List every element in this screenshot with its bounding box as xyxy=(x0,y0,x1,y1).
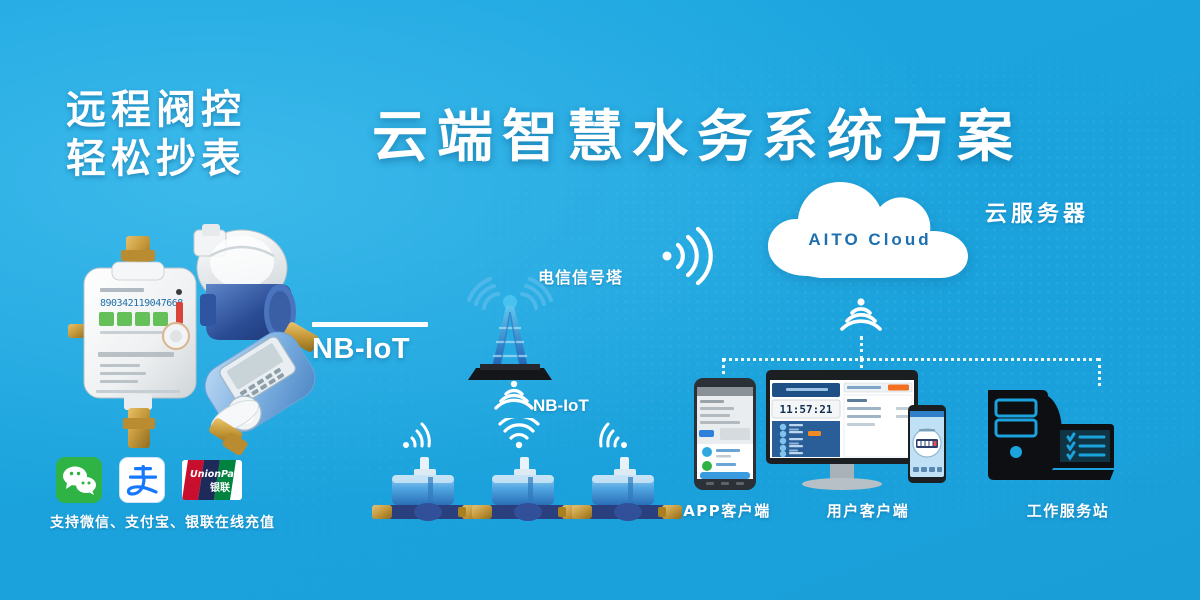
signal-tower-icon xyxy=(462,272,558,382)
alipay-icon[interactable] xyxy=(119,457,165,503)
headline-left-line1: 远程阀控 xyxy=(66,86,246,135)
unionpay-icon[interactable]: UnionPay 银联 xyxy=(182,460,242,500)
payment-methods: UnionPay 银联 xyxy=(56,457,242,503)
nbiot-underline xyxy=(312,322,428,327)
user-client-tablet xyxy=(908,405,946,488)
nb-water-meter-1 xyxy=(372,455,466,515)
svg-text:UnionPay: UnionPay xyxy=(190,469,240,480)
user-client-monitor: 11:57:21 xyxy=(766,370,926,497)
payment-caption: 支持微信、支付宝、银联在线充值 xyxy=(50,512,275,532)
cloud-label: AITO Cloud xyxy=(760,230,980,250)
wifi-signal-icon-tower-uplink xyxy=(492,378,536,417)
wifi-signal-icon-meter-3 xyxy=(594,420,632,455)
poster-canvas: 远程阀控 轻松抄表 云端智慧水务系统方案 xyxy=(0,0,1200,600)
tower-label: 电信信号塔 xyxy=(538,264,623,288)
nbiot-primary-label: NB-IoT xyxy=(312,322,428,366)
svg-text:11:57:21: 11:57:21 xyxy=(780,403,833,416)
nbiot-secondary-label: NB-IoT xyxy=(533,396,589,416)
cloud-icon: AITO Cloud xyxy=(760,168,980,283)
app-client-phone xyxy=(694,378,756,495)
wifi-signal-icon-meter-2 xyxy=(497,418,541,455)
wifi-signal-icon-cloud-downlink xyxy=(838,296,884,339)
connector-cloud-to-bus xyxy=(860,336,863,360)
nb-water-meter-2 xyxy=(472,455,566,515)
endpoint-label-user-client: 用户客户端 xyxy=(818,500,918,521)
work-service-station-devices xyxy=(984,382,1114,495)
cloud-server-caption: 云服务器 xyxy=(985,196,1089,228)
wechat-pay-icon[interactable] xyxy=(56,457,102,503)
endpoint-label-app-client: APP客户端 xyxy=(682,500,772,521)
page-title: 云端智慧水务系统方案 xyxy=(372,92,1022,173)
svg-text:890342119047668: 890342119047668 xyxy=(100,298,183,309)
nbiot-primary-text: NB-IoT xyxy=(312,333,428,366)
endpoint-label-workstation: 工作服务站 xyxy=(1018,500,1118,521)
headline-left-line2: 轻松抄表 xyxy=(66,135,246,184)
headline-left: 远程阀控 轻松抄表 xyxy=(66,86,246,184)
nb-water-meter-3 xyxy=(572,455,666,515)
wifi-signal-icon-cloud-uplink xyxy=(655,225,717,292)
smart-water-meter-lcd xyxy=(190,320,330,460)
connector-bus-horizontal xyxy=(722,358,1100,361)
wifi-signal-icon-meter-1 xyxy=(398,420,436,455)
svg-text:银联: 银联 xyxy=(210,481,230,494)
